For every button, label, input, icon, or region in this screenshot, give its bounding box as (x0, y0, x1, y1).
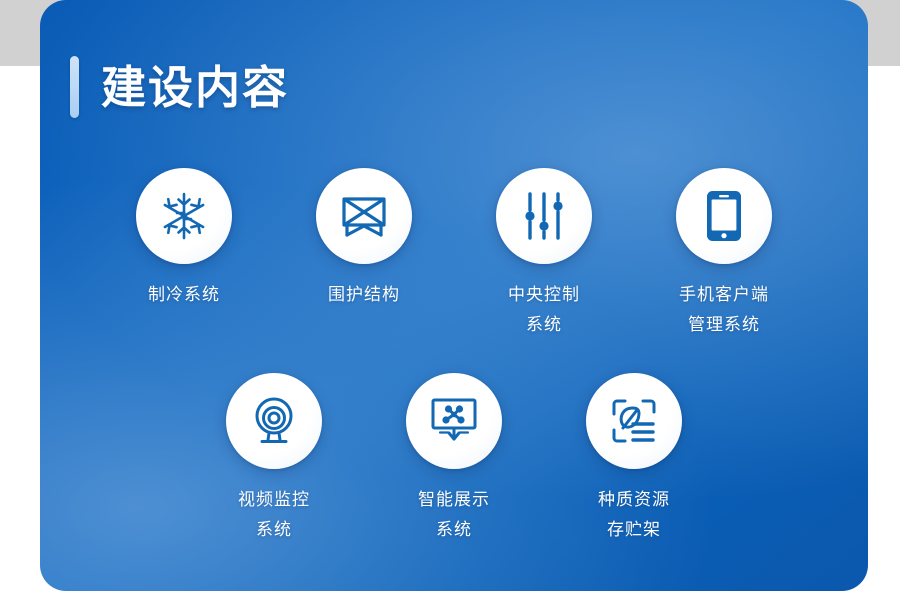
feature-row-1: 制冷系统 围护结构 (40, 168, 868, 341)
surveillance-camera-icon[interactable] (226, 373, 322, 469)
mobile-phone-icon[interactable] (676, 168, 772, 264)
page-root: 建设内容 (0, 0, 900, 591)
feature-item-central-control[interactable]: 中央控制 系统 (454, 168, 634, 341)
feature-item-refrigeration[interactable]: 制冷系统 (94, 168, 274, 341)
smart-display-icon[interactable] (406, 373, 502, 469)
germplasm-storage-icon[interactable] (586, 373, 682, 469)
feature-label: 种质资源 存贮架 (598, 485, 670, 546)
content-card: 建设内容 (40, 0, 868, 591)
feature-label: 视频监控 系统 (238, 485, 310, 546)
feature-item-smart-display[interactable]: 智能展示 系统 (364, 373, 544, 546)
feature-item-envelope[interactable]: 围护结构 (274, 168, 454, 341)
feature-row-2: 视频监控 系统 (40, 373, 868, 546)
page-header: 建设内容 (70, 56, 289, 118)
feature-label: 手机客户端 管理系统 (679, 280, 769, 341)
feature-label: 制冷系统 (148, 280, 220, 310)
snowflake-icon[interactable] (136, 168, 232, 264)
sliders-control-icon[interactable] (496, 168, 592, 264)
feature-label: 中央控制 系统 (508, 280, 580, 341)
feature-item-mobile-client[interactable]: 手机客户端 管理系统 (634, 168, 814, 341)
building-envelope-icon[interactable] (316, 168, 412, 264)
feature-item-video-surveillance[interactable]: 视频监控 系统 (184, 373, 364, 546)
feature-item-germplasm-storage[interactable]: 种质资源 存贮架 (544, 373, 724, 546)
page-title: 建设内容 (101, 65, 289, 110)
feature-label: 围护结构 (328, 280, 400, 310)
feature-label: 智能展示 系统 (418, 485, 490, 546)
title-accent-bar (70, 56, 79, 118)
